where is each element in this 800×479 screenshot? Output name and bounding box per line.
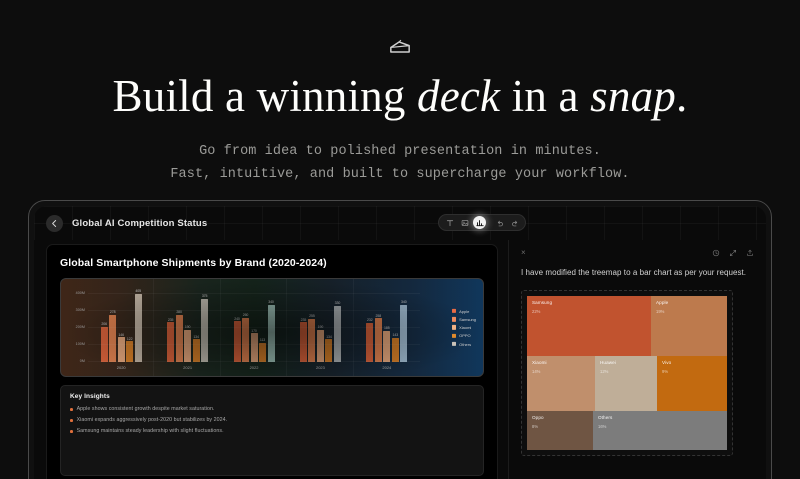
chart-group-2023: 2352551901343302023 bbox=[287, 286, 353, 362]
treemap-cell[interactable]: Huawei12% bbox=[595, 356, 657, 411]
chart-y-tick-label: 0M bbox=[80, 359, 85, 363]
chart-bar-value-label: 240 bbox=[234, 317, 240, 321]
treemap-cell-value: 16% bbox=[598, 424, 722, 429]
chart-bar[interactable]: 232 bbox=[366, 323, 373, 362]
chart-x-tick-label: 2020 bbox=[117, 365, 126, 370]
chart-x-tick-label: 2023 bbox=[316, 365, 325, 370]
insight-item: Apple shows consistent growth despite ma… bbox=[70, 406, 474, 413]
chat-header-actions bbox=[712, 249, 754, 257]
chart-bar-value-label: 375 bbox=[202, 294, 208, 298]
chart-bar[interactable]: 134 bbox=[193, 339, 200, 362]
chart-bar-value-label: 232 bbox=[367, 318, 373, 322]
redo-icon bbox=[511, 219, 519, 227]
page-title: Build a winning deck in a snap. bbox=[0, 72, 800, 121]
treemap-cell-label: Others bbox=[598, 415, 722, 420]
logo bbox=[0, 34, 800, 60]
legend-swatch bbox=[452, 342, 457, 347]
chart-legend-item[interactable]: Xiaomi bbox=[452, 325, 476, 330]
chart-bar[interactable]: 280 bbox=[176, 315, 183, 362]
app-topbar: Global AI Competition Status bbox=[34, 206, 766, 240]
app-window: Global AI Competition Status bbox=[28, 200, 772, 479]
chart-bar[interactable]: 255 bbox=[308, 319, 315, 362]
chart-group-2022: 2402601701133402022 bbox=[221, 286, 287, 362]
treemap-cell[interactable]: Samsung22% bbox=[527, 296, 651, 356]
insight-text: Apple shows consistent growth despite ma… bbox=[77, 406, 215, 413]
chart-legend-item[interactable]: Others bbox=[452, 342, 476, 347]
chart-bar-value-label: 340 bbox=[401, 300, 407, 304]
headline-part-0: Build a winning bbox=[113, 71, 417, 121]
treemap-cell-value: 22% bbox=[532, 309, 646, 314]
expand-icon[interactable] bbox=[729, 249, 737, 257]
chart-bar-value-label: 405 bbox=[135, 289, 141, 293]
chart-bar-value-label: 340 bbox=[268, 300, 274, 304]
headline-part-1: deck bbox=[417, 71, 500, 121]
legend-swatch bbox=[452, 309, 457, 314]
hero-section: Build a winning deck in a snap. Go from … bbox=[0, 0, 800, 186]
chart-bar-value-label: 235 bbox=[168, 318, 174, 322]
chart-plot-area: 2062781461224052020235280190134375202124… bbox=[88, 286, 420, 362]
chart-legend-item[interactable]: OPPO bbox=[452, 333, 476, 338]
chart-bar[interactable]: 190 bbox=[184, 330, 191, 362]
chart-group-2021: 2352801901343752021 bbox=[154, 286, 220, 362]
undo-icon bbox=[496, 219, 504, 227]
chart-bar-value-label: 143 bbox=[393, 333, 399, 337]
chart-bar-value-label: 206 bbox=[101, 322, 107, 326]
text-tool-button[interactable] bbox=[443, 216, 456, 229]
treemap-cell[interactable]: Xiaomi14% bbox=[527, 356, 595, 411]
editor-toolbar bbox=[438, 214, 526, 231]
treemap-cell[interactable]: Oppo8% bbox=[527, 411, 593, 450]
chart-container[interactable]: 2062781461224052020235280190134375202124… bbox=[60, 278, 484, 377]
slide-title: Global Smartphone Shipments by Brand (20… bbox=[60, 257, 484, 269]
headline-part-4: . bbox=[676, 71, 687, 121]
assistant-message: I have modified the treemap to a bar cha… bbox=[521, 267, 754, 279]
treemap-cell-value: 9% bbox=[662, 369, 722, 374]
chart-groups: 2062781461224052020235280190134375202124… bbox=[88, 286, 420, 362]
treemap-cell-value: 12% bbox=[600, 369, 652, 374]
insight-text: Samsung maintains steady leadership with… bbox=[77, 428, 224, 435]
chart-group-2024: 2322581851433402024 bbox=[354, 286, 420, 362]
image-icon bbox=[461, 219, 469, 227]
chart-gridline: 200M bbox=[88, 327, 420, 328]
treemap-cell[interactable]: Others16% bbox=[593, 411, 727, 450]
chart-bar[interactable]: 146 bbox=[118, 337, 125, 362]
chart-group-2020: 2062781461224052020 bbox=[88, 286, 154, 362]
insights-heading: Key Insights bbox=[70, 393, 474, 400]
bullet-icon bbox=[70, 430, 73, 433]
slide[interactable]: Global Smartphone Shipments by Brand (20… bbox=[46, 244, 498, 479]
treemap-cell-label: Apple bbox=[656, 300, 722, 305]
chart-gridline: 0M bbox=[88, 361, 420, 362]
close-icon[interactable]: × bbox=[521, 249, 526, 257]
chart-bar-value-label: 122 bbox=[127, 337, 133, 341]
legend-swatch bbox=[452, 334, 457, 339]
chart-legend-item[interactable]: Samsung bbox=[452, 317, 476, 322]
treemap-cell-label: Vivo bbox=[662, 360, 722, 365]
chart-bar-value-label: 134 bbox=[326, 335, 332, 339]
treemap-cell[interactable]: Apple19% bbox=[651, 296, 727, 356]
chart-y-tick-label: 400M bbox=[76, 291, 85, 295]
undo-button[interactable] bbox=[493, 216, 506, 229]
chart-legend: AppleSamsungXiaomiOPPOOthers bbox=[452, 308, 476, 346]
treemap-cell-value: 14% bbox=[532, 369, 590, 374]
chart-bar[interactable]: 170 bbox=[251, 333, 258, 362]
headline-part-2: in a bbox=[500, 71, 590, 121]
insights-list: Apple shows consistent growth despite ma… bbox=[70, 406, 474, 435]
bullet-icon bbox=[70, 408, 73, 411]
treemap-cell-label: Xiaomi bbox=[532, 360, 590, 365]
app-window-inner: Global AI Competition Status bbox=[34, 206, 766, 479]
legend-label: OPPO bbox=[459, 333, 471, 338]
chart-x-tick-label: 2021 bbox=[183, 365, 192, 370]
treemap-chart[interactable]: Samsung22%Apple19%Xiaomi14%Huawei12%Vivo… bbox=[521, 290, 733, 456]
chart-bar-value-label: 330 bbox=[335, 301, 341, 305]
subtitle-line-2: Fast, intuitive, and built to supercharg… bbox=[0, 163, 800, 186]
chart-x-tick-label: 2022 bbox=[250, 365, 259, 370]
text-icon bbox=[446, 219, 454, 227]
chart-bar[interactable]: 278 bbox=[109, 315, 116, 362]
headline-part-3: snap bbox=[590, 71, 676, 121]
chart-bar[interactable]: 143 bbox=[392, 338, 399, 362]
insight-item: Samsung maintains steady leadership with… bbox=[70, 428, 474, 435]
chart-gridline: 400M bbox=[88, 293, 420, 294]
chart-y-tick-label: 200M bbox=[76, 325, 85, 329]
chart-bar-value-label: 146 bbox=[118, 333, 124, 337]
subtitle-line-1: Go from idea to polished presentation in… bbox=[0, 140, 800, 163]
cake-slice-icon bbox=[389, 39, 411, 55]
workspace-split: Global Smartphone Shipments by Brand (20… bbox=[34, 240, 766, 479]
treemap-cell-value: 19% bbox=[656, 309, 722, 314]
treemap-cells: Samsung22%Apple19%Xiaomi14%Huawei12%Vivo… bbox=[527, 296, 727, 450]
insight-text: Xiaomi expands aggressively post-2020 bu… bbox=[77, 417, 228, 424]
chart-bar[interactable]: 340 bbox=[268, 305, 275, 362]
chart-bar[interactable]: 113 bbox=[259, 343, 266, 362]
treemap-cell-label: Oppo bbox=[532, 415, 588, 420]
chart-bar[interactable]: 185 bbox=[383, 331, 390, 362]
chart-legend-item[interactable]: Apple bbox=[452, 308, 476, 313]
chart-bar-value-label: 258 bbox=[376, 314, 382, 318]
chat-pane: × I have modified the bbox=[508, 240, 766, 479]
treemap-cell-value: 8% bbox=[532, 424, 588, 429]
treemap-cell[interactable]: Vivo9% bbox=[657, 356, 727, 411]
key-insights-card: Key Insights Apple shows consistent grow… bbox=[60, 385, 484, 476]
chart-bar[interactable]: 190 bbox=[317, 330, 324, 362]
chart-bar-value-label: 235 bbox=[301, 318, 307, 322]
chart-bar[interactable]: 134 bbox=[325, 339, 332, 362]
image-tool-button[interactable] bbox=[458, 216, 471, 229]
chart-bar-value-label: 134 bbox=[193, 335, 199, 339]
chart-bar-value-label: 255 bbox=[309, 314, 315, 318]
redo-button[interactable] bbox=[508, 216, 521, 229]
chart-bar[interactable]: 235 bbox=[167, 322, 174, 362]
chat-header: × bbox=[521, 244, 754, 261]
chart-y-tick-label: 100M bbox=[76, 342, 85, 346]
insight-item: Xiaomi expands aggressively post-2020 bu… bbox=[70, 417, 474, 424]
chart-bar-value-label: 170 bbox=[251, 329, 257, 333]
bullet-icon bbox=[70, 419, 73, 422]
chart-bar-value-label: 113 bbox=[260, 338, 265, 342]
legend-swatch bbox=[452, 325, 457, 330]
chart-bar[interactable]: 235 bbox=[300, 322, 307, 362]
legend-swatch bbox=[452, 317, 457, 322]
chart-bar[interactable]: 340 bbox=[400, 305, 407, 362]
chart-x-tick-label: 2024 bbox=[382, 365, 391, 370]
legend-label: Samsung bbox=[459, 317, 476, 322]
canvas-pane[interactable]: Global Smartphone Shipments by Brand (20… bbox=[34, 240, 508, 479]
chart-bar[interactable]: 330 bbox=[334, 306, 341, 362]
legend-label: Xiaomi bbox=[459, 325, 471, 330]
arrow-left-icon bbox=[50, 219, 59, 228]
chart-bar[interactable]: 375 bbox=[201, 299, 208, 362]
chart-gridline: 300M bbox=[88, 310, 420, 311]
document-title: Global AI Competition Status bbox=[72, 218, 207, 229]
chart-icon bbox=[476, 219, 484, 227]
history-icon[interactable] bbox=[712, 249, 720, 257]
share-icon[interactable] bbox=[746, 249, 754, 257]
chart-bar[interactable]: 258 bbox=[375, 318, 382, 362]
chart-tool-button[interactable] bbox=[473, 216, 486, 229]
back-button[interactable] bbox=[46, 215, 63, 232]
legend-label: Others bbox=[459, 342, 471, 347]
treemap-cell-label: Samsung bbox=[532, 300, 646, 305]
hero-subtitle: Go from idea to polished presentation in… bbox=[0, 140, 800, 186]
chart-bar-value-label: 260 bbox=[243, 313, 249, 317]
legend-label: Apple bbox=[459, 308, 469, 313]
chart-bar[interactable]: 260 bbox=[242, 318, 249, 362]
treemap-cell-label: Huawei bbox=[600, 360, 652, 365]
chart-y-tick-label: 300M bbox=[76, 308, 85, 312]
chart-gridline: 100M bbox=[88, 344, 420, 345]
